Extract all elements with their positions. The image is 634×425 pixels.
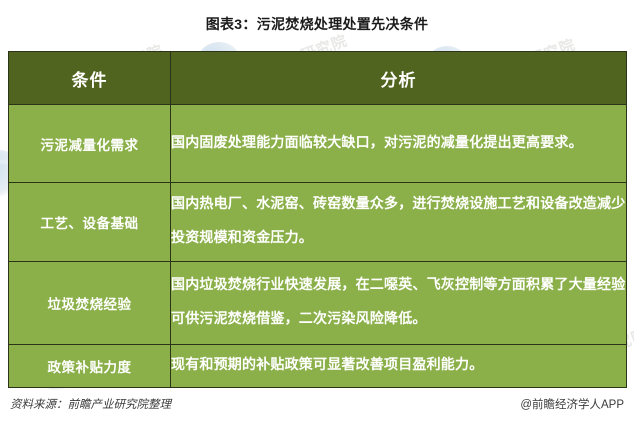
table-header: 条件 分析 xyxy=(9,52,627,105)
cell-analysis: 国内垃圾焚烧行业快速发展，在二噁英、飞灰控制等方面积累了大量经验可供污泥焚烧借鉴… xyxy=(171,262,627,345)
cell-condition: 政策补贴力度 xyxy=(9,345,171,388)
table-row: 垃圾焚烧经验 国内垃圾焚烧行业快速发展，在二噁英、飞灰控制等方面积累了大量经验可… xyxy=(9,262,627,345)
source-note: 资料来源：前瞻产业研究院整理 xyxy=(10,396,171,412)
column-header-analysis: 分析 xyxy=(171,52,627,105)
column-header-condition: 条件 xyxy=(9,52,171,105)
cell-condition: 工艺、设备基础 xyxy=(9,183,171,262)
cell-analysis: 现有和预期的补贴政策可显著改善项目盈利能力。 xyxy=(171,345,627,388)
prerequisites-table: 条件 分析 污泥减量化需求 国内固废处理能力面临较大缺口，对污泥的减量化提出更高… xyxy=(8,51,627,388)
page-title: 图表3：污泥焚烧处理处置先决条件 xyxy=(0,14,634,34)
table-body: 污泥减量化需求 国内固废处理能力面临较大缺口，对污泥的减量化提出更高要求。 工艺… xyxy=(9,105,627,388)
table-row: 政策补贴力度 现有和预期的补贴政策可显著改善项目盈利能力。 xyxy=(9,345,627,388)
cell-analysis: 国内热电厂、水泥窑、砖窑数量众多，进行焚烧设施工艺和设备改造减少投资规模和资金压… xyxy=(171,183,627,262)
cell-condition: 污泥减量化需求 xyxy=(9,105,171,183)
cell-analysis: 国内固废处理能力面临较大缺口，对污泥的减量化提出更高要求。 xyxy=(171,105,627,183)
table-row: 工艺、设备基础 国内热电厂、水泥窑、砖窑数量众多，进行焚烧设施工艺和设备改造减少… xyxy=(9,183,627,262)
table-header-row: 条件 分析 xyxy=(9,52,627,105)
brand-credit: @前瞻经济学人APP xyxy=(520,396,624,412)
cell-condition: 垃圾焚烧经验 xyxy=(9,262,171,345)
table-row: 污泥减量化需求 国内固废处理能力面临较大缺口，对污泥的减量化提出更高要求。 xyxy=(9,105,627,183)
